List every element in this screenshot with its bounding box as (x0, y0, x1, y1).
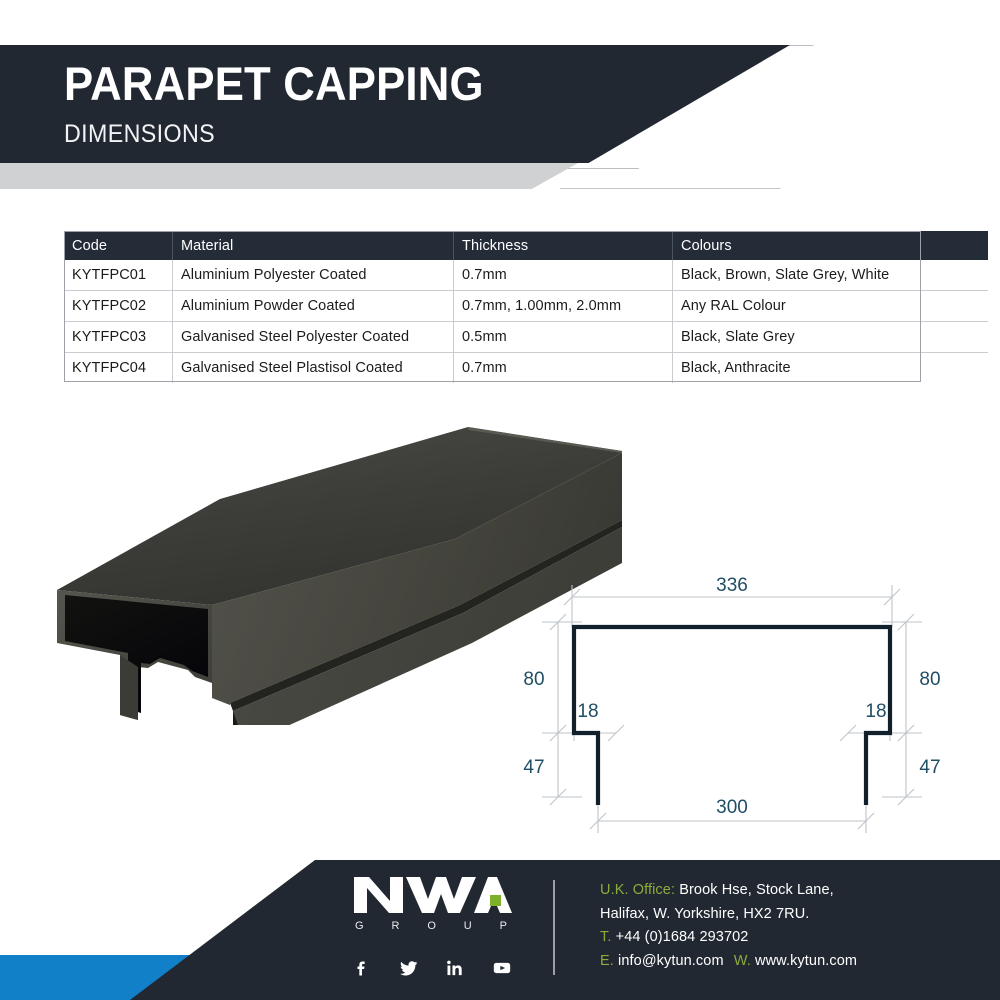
dim-label-bottom-width: 300 (716, 797, 748, 818)
column-header-thickness: Thickness (454, 231, 673, 260)
header-grey-banner (0, 163, 578, 189)
dim-label-top-width: 336 (716, 575, 748, 596)
facebook-icon[interactable] (352, 958, 372, 978)
page-subtitle: DIMENSIONS (64, 122, 215, 147)
cell-colours: Black, Anthracite (673, 353, 989, 384)
logo-group-word: G R O U P (355, 920, 507, 932)
logo-letter-g: G (355, 920, 364, 932)
footer-divider (553, 880, 555, 975)
contact-email-web-line: E. info@kytun.com W. www.kytun.com (600, 950, 857, 974)
logo-letter-r: R (391, 920, 399, 932)
dim-label-left-return: 18 (577, 701, 598, 722)
cell-material: Galvanised Steel Polyester Coated (173, 322, 454, 353)
cell-code: KYTFPC04 (64, 353, 173, 384)
specification-table: Code Material Thickness Colours KYTFPC01… (64, 231, 988, 383)
dim-label-right-return: 18 (865, 701, 886, 722)
table-row: KYTFPC01 Aluminium Polyester Coated 0.7m… (64, 260, 988, 291)
phone-label: T. (600, 929, 611, 945)
linkedin-icon[interactable] (445, 958, 465, 978)
cell-thickness: 0.7mm (454, 353, 673, 384)
header-grey-outline-shape (560, 166, 810, 189)
profile-outline (574, 627, 890, 805)
datasheet-page: PARAPET CAPPING DIMENSIONS Code Material… (0, 0, 1000, 1000)
contact-details: U.K. Office: Brook Hse, Stock Lane, Hali… (600, 879, 857, 973)
table-row: KYTFPC02 Aluminium Powder Coated 0.7mm, … (64, 291, 988, 322)
dim-label-right-height: 80 (919, 669, 940, 690)
table-header-row: Code Material Thickness Colours (64, 231, 988, 260)
contact-phone-line: T. +44 (0)1684 293702 (600, 926, 857, 950)
contact-address-line-2: Halifax, W. Yorkshire, HX2 7RU. (600, 903, 857, 927)
page-title: PARAPET CAPPING (64, 60, 484, 107)
cell-code: KYTFPC02 (64, 291, 173, 322)
dim-label-left-drop: 47 (523, 757, 544, 778)
logo-green-accent (490, 895, 501, 906)
cell-thickness: 0.7mm (454, 260, 673, 291)
table-row: KYTFPC04 Galvanised Steel Plastisol Coat… (64, 353, 988, 384)
logo-letter-p: P (500, 920, 507, 932)
logo-letter-o: O (427, 920, 436, 932)
web-value[interactable]: www.kytun.com (755, 953, 857, 969)
twitter-icon[interactable] (399, 958, 419, 978)
cell-colours: Any RAL Colour (673, 291, 989, 322)
address-line-1: Brook Hse, Stock Lane, (679, 882, 834, 898)
dim-label-left-height: 80 (523, 669, 544, 690)
cell-code: KYTFPC03 (64, 322, 173, 353)
dimension-labels-group: 336 80 80 18 18 47 47 300 (523, 575, 940, 818)
page-header: PARAPET CAPPING DIMENSIONS (0, 0, 1000, 200)
youtube-icon[interactable] (492, 958, 512, 978)
page-footer: G R O U P U.K. (0, 850, 1000, 1000)
nwa-logo (352, 875, 512, 915)
social-links-row (352, 958, 512, 978)
cell-colours: Black, Slate Grey (673, 322, 989, 353)
column-header-code: Code (64, 231, 173, 260)
email-value[interactable]: info@kytun.com (618, 953, 724, 969)
dim-label-right-drop: 47 (919, 757, 940, 778)
cell-thickness: 0.5mm (454, 322, 673, 353)
web-label: W. (734, 953, 751, 969)
table-row: KYTFPC03 Galvanised Steel Polyester Coat… (64, 322, 988, 353)
cell-material: Aluminium Polyester Coated (173, 260, 454, 291)
column-header-colours: Colours (673, 231, 989, 260)
email-label: E. (600, 953, 614, 969)
office-label: U.K. Office: (600, 882, 675, 898)
contact-address-line-1: U.K. Office: Brook Hse, Stock Lane, (600, 879, 857, 903)
column-header-material: Material (173, 231, 454, 260)
cell-colours: Black, Brown, Slate Grey, White (673, 260, 989, 291)
technical-cross-section: 336 80 80 18 18 47 47 300 (520, 565, 990, 855)
cell-material: Aluminium Powder Coated (173, 291, 454, 322)
cell-code: KYTFPC01 (64, 260, 173, 291)
cell-material: Galvanised Steel Plastisol Coated (173, 353, 454, 384)
logo-letter-u: U (464, 920, 472, 932)
cell-thickness: 0.7mm, 1.00mm, 2.0mm (454, 291, 673, 322)
address-line-2: Halifax, W. Yorkshire, HX2 7RU. (600, 906, 809, 922)
phone-value[interactable]: +44 (0)1684 293702 (616, 929, 749, 945)
